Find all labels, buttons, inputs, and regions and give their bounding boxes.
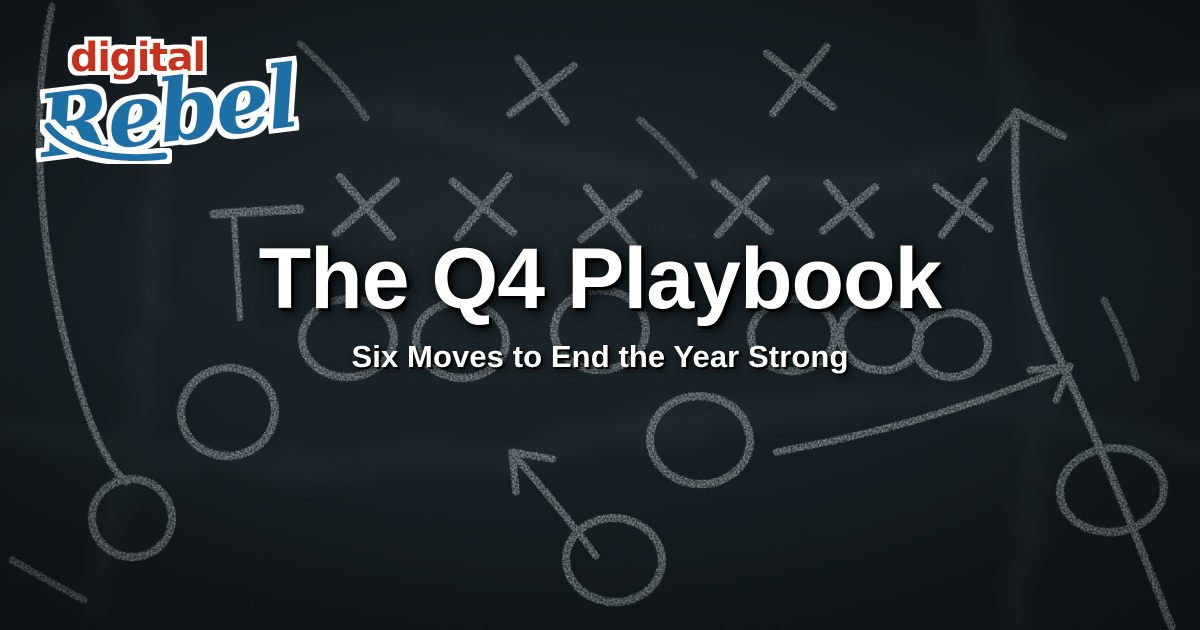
digital-rebel-logo[interactable]: digital Rebel bbox=[32, 22, 332, 167]
og-banner: digital Rebel The Q4 Playbook Six Moves … bbox=[0, 0, 1200, 630]
hero-text-block: The Q4 Playbook Six Moves to End the Yea… bbox=[0, 236, 1200, 374]
page-title: The Q4 Playbook bbox=[40, 236, 1160, 322]
page-subtitle: Six Moves to End the Year Strong bbox=[40, 340, 1160, 374]
